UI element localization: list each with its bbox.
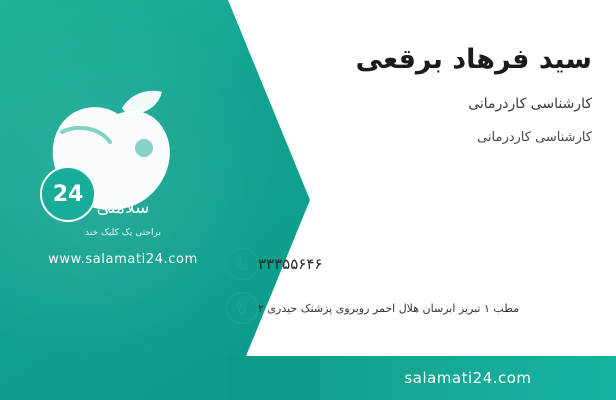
logo-tagline: براحتی یک کلیک خند — [18, 228, 228, 238]
logo-website-url: www.salamati24.com — [18, 252, 228, 267]
footer-website: salamati24.com — [404, 369, 531, 387]
specialty-primary: کارشناسی کاردرمانی — [212, 96, 592, 112]
specialty-secondary: کارشناسی کاردرمانی — [212, 130, 592, 145]
footer-bar[interactable]: salamati24.com — [320, 356, 616, 400]
page-title: سید فرهاد برقعی — [212, 44, 592, 75]
phone-icon — [226, 248, 258, 280]
address-text: مطب ۱ تبریز ابرسان هلال احمر روبروی پزشن… — [258, 302, 519, 315]
contact-row-address[interactable]: مطب ۱ تبریز ابرسان هلال احمر روبروی پزشن… — [214, 292, 594, 324]
bottom-bar-left-block — [228, 356, 320, 400]
business-card: 24 سلامتی براحتی یک کلیک خند www.salamat… — [0, 0, 616, 400]
contact-row-phone[interactable]: ۳۳۳۵۵۶۴۶ — [214, 248, 594, 280]
logo-script-text: سلامتی — [18, 198, 228, 218]
location-pin-icon — [226, 292, 258, 324]
phone-number: ۳۳۳۵۵۶۴۶ — [258, 255, 322, 273]
logo-block: 24 سلامتی براحتی یک کلیک خند www.salamat… — [18, 88, 228, 278]
